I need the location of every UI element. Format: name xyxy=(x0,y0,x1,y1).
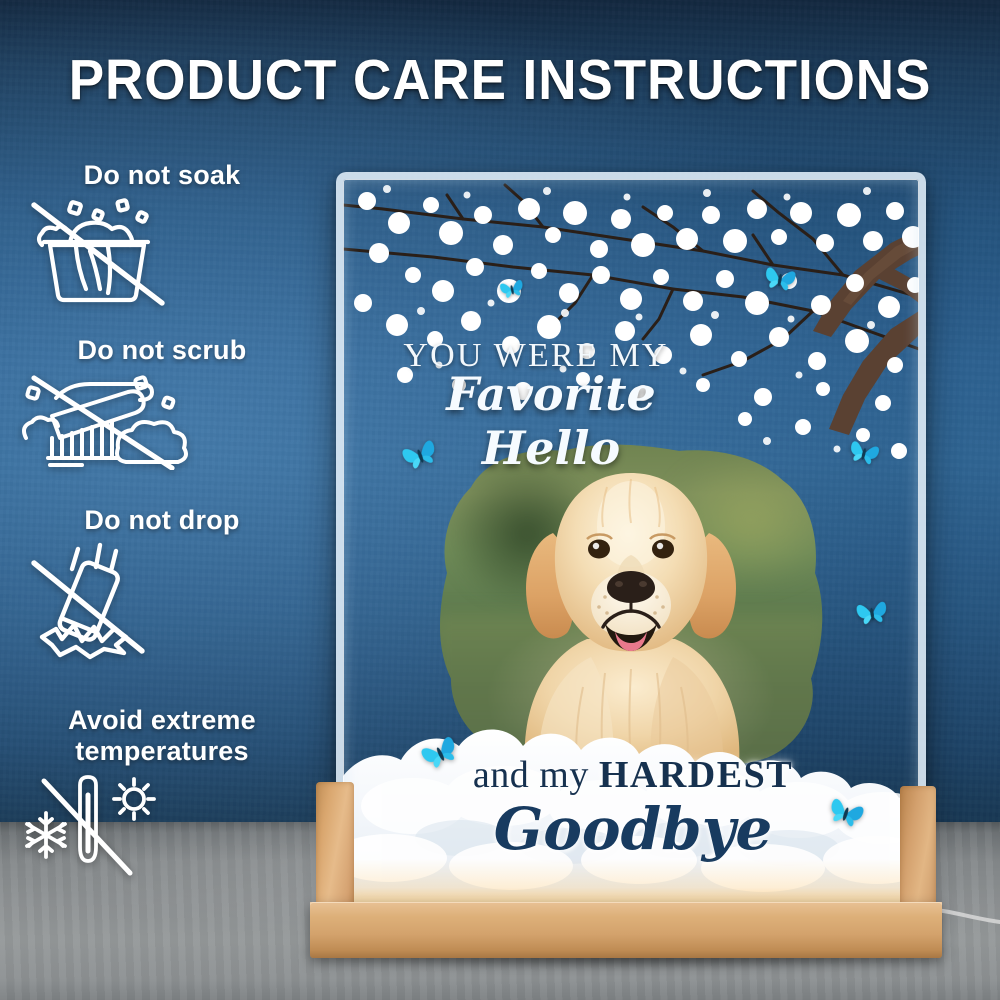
care-label-do-not-soak: Do not soak xyxy=(12,160,312,191)
stand-front-rail xyxy=(310,902,942,958)
no-drop-icon xyxy=(12,541,312,663)
care-label-avoid-extreme-temperatures: Avoid extreme temperatures xyxy=(12,705,312,767)
no-soak-icon xyxy=(12,197,312,307)
care-item-do-not-scrub: Do not scrub xyxy=(12,335,312,470)
care-label-line-1: Avoid extreme xyxy=(12,705,312,736)
care-label-line-2: temperatures xyxy=(12,736,312,767)
butterfly-icon xyxy=(760,261,800,296)
care-label-do-not-scrub: Do not scrub xyxy=(12,335,312,366)
care-label-do-not-drop: Do not drop xyxy=(12,505,312,536)
wooden-stand[interactable] xyxy=(310,782,942,964)
butterfly-icon xyxy=(852,596,891,630)
no-scrub-icon xyxy=(12,372,312,470)
care-instruction-list: Do not soak xyxy=(12,160,312,883)
product-care-instructions-image: PRODUCT CARE INSTRUCTIONS Do not soak xyxy=(0,0,1000,1000)
care-item-do-not-soak: Do not soak xyxy=(12,160,312,307)
care-item-do-not-drop: Do not drop xyxy=(12,505,312,664)
care-item-avoid-extreme-temperatures: Avoid extreme temperatures xyxy=(12,705,312,883)
page-title: PRODUCT CARE INSTRUCTIONS xyxy=(35,52,965,109)
no-extreme-temperature-icon xyxy=(12,773,312,883)
